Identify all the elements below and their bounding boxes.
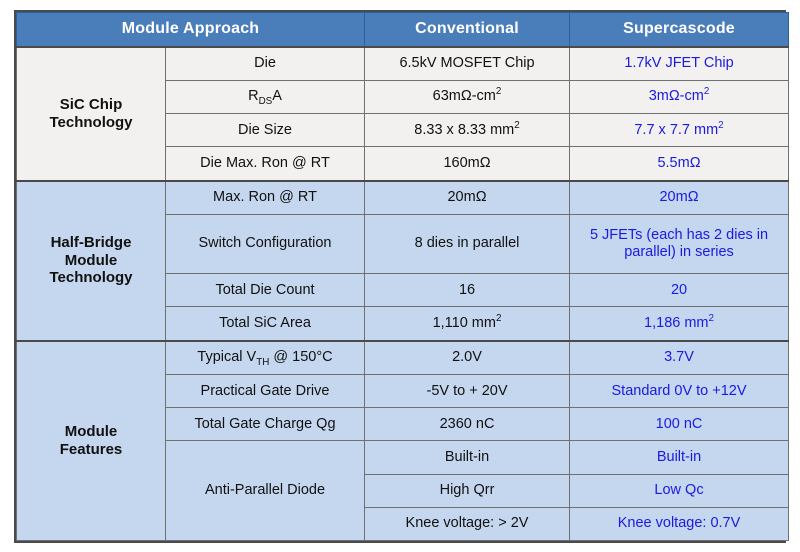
rdsa-base: R	[248, 88, 258, 104]
parameter-typical-vth: Typical VTH @ 150°C	[166, 341, 365, 375]
header-supercascode: Supercascode	[570, 13, 789, 47]
conv-die-size-superscript: 2	[514, 120, 519, 131]
parameter-total-sic-area: Total SiC Area	[166, 307, 365, 341]
value-supercascode-gate-charge: 100 nC	[570, 408, 789, 441]
parameter-die-max-ron-rt: Die Max. Ron @ RT	[166, 147, 365, 181]
table-row: SiC Chip Technology Die 6.5kV MOSFET Chi…	[17, 47, 789, 81]
table-body: SiC Chip Technology Die 6.5kV MOSFET Chi…	[17, 47, 789, 541]
value-supercascode-gate-drive: Standard 0V to +12V	[570, 374, 789, 407]
parameter-die: Die	[166, 47, 365, 81]
value-supercascode-diode-builtin: Built-in	[570, 441, 789, 474]
super-die-size-superscript: 2	[718, 120, 723, 131]
group-label-line-1: SiC Chip	[60, 96, 123, 113]
value-conventional-die-max-ron: 160mΩ	[365, 147, 570, 181]
parameter-max-ron-rt: Max. Ron @ RT	[166, 181, 365, 215]
value-supercascode-vth: 3.7V	[570, 341, 789, 375]
value-supercascode-diode-qc: Low Qc	[570, 474, 789, 507]
value-supercascode-knee-voltage: Knee voltage: 0.7V	[570, 507, 789, 540]
conv-die-size-base: 8.33 x 8.33 mm	[414, 122, 514, 138]
header-module-approach: Module Approach	[17, 13, 365, 47]
super-rdsa-superscript: 2	[704, 87, 709, 98]
vth-subscript: TH	[256, 357, 269, 368]
group-label-line-1: Module	[65, 423, 118, 440]
value-conventional-total-die-count: 16	[365, 273, 570, 306]
value-supercascode-rdsa: 3mΩ-cm2	[570, 80, 789, 113]
super-rdsa-base: 3mΩ-cm	[649, 88, 704, 104]
group-cell-half-bridge-module-technology: Half-Bridge Module Technology	[17, 181, 166, 341]
value-conventional-die: 6.5kV MOSFET Chip	[365, 47, 570, 81]
vth-tail: @ 150°C	[269, 349, 332, 365]
parameter-total-die-count: Total Die Count	[166, 273, 365, 306]
value-conventional-max-ron: 20mΩ	[365, 181, 570, 215]
group-label-line-2: Module	[65, 252, 118, 269]
value-conventional-knee-voltage: Knee voltage: > 2V	[365, 507, 570, 540]
value-conventional-die-size: 8.33 x 8.33 mm2	[365, 114, 570, 147]
value-supercascode-switch-config: 5 JFETs (each has 2 dies in parallel) in…	[570, 215, 789, 274]
group-label-line-2: Features	[60, 441, 123, 458]
value-conventional-gate-charge: 2360 nC	[365, 408, 570, 441]
value-conventional-gate-drive: -5V to + 20V	[365, 374, 570, 407]
rdsa-tail: A	[272, 88, 282, 104]
group-label-line-3: Technology	[49, 269, 132, 286]
value-supercascode-die-max-ron: 5.5mΩ	[570, 147, 789, 181]
parameter-anti-parallel-diode: Anti-Parallel Diode	[166, 441, 365, 541]
table-row: Module Features Typical VTH @ 150°C 2.0V…	[17, 341, 789, 375]
group-label-line-1: Half-Bridge	[51, 234, 132, 251]
parameter-total-gate-charge: Total Gate Charge Qg	[166, 408, 365, 441]
super-die-size-base: 7.7 x 7.7 mm	[634, 122, 718, 138]
super-sic-area-superscript: 2	[709, 313, 714, 324]
table-header-row: Module Approach Conventional Supercascod…	[17, 13, 789, 47]
table-row: Half-Bridge Module Technology Max. Ron @…	[17, 181, 789, 215]
value-conventional-diode-builtin: Built-in	[365, 441, 570, 474]
conv-sic-area-base: 1,110 mm	[433, 315, 496, 331]
value-supercascode-total-die-count: 20	[570, 273, 789, 306]
comparison-table-container: Module Approach Conventional Supercascod…	[14, 10, 786, 543]
parameter-practical-gate-drive: Practical Gate Drive	[166, 374, 365, 407]
parameter-switch-configuration: Switch Configuration	[166, 215, 365, 274]
parameter-rdsa: RDSA	[166, 80, 365, 113]
module-approach-comparison-table: Module Approach Conventional Supercascod…	[16, 12, 789, 541]
value-supercascode-total-sic-area: 1,186 mm2	[570, 307, 789, 341]
conv-rdsa-base: 63mΩ-cm	[433, 88, 496, 104]
conv-sic-area-superscript: 2	[496, 313, 501, 324]
vth-base: Typical V	[197, 349, 256, 365]
value-supercascode-die: 1.7kV JFET Chip	[570, 47, 789, 81]
value-supercascode-die-size: 7.7 x 7.7 mm2	[570, 114, 789, 147]
value-supercascode-max-ron: 20mΩ	[570, 181, 789, 215]
value-conventional-rdsa: 63mΩ-cm2	[365, 80, 570, 113]
header-conventional: Conventional	[365, 13, 570, 47]
conv-rdsa-superscript: 2	[496, 87, 501, 98]
value-conventional-total-sic-area: 1,110 mm2	[365, 307, 570, 341]
value-conventional-switch-config: 8 dies in parallel	[365, 215, 570, 274]
super-sic-area-base: 1,186 mm	[644, 315, 708, 331]
group-cell-module-features: Module Features	[17, 341, 166, 541]
group-label-line-2: Technology	[49, 114, 132, 131]
group-cell-sic-chip-technology: SiC Chip Technology	[17, 47, 166, 181]
rdsa-subscript: DS	[259, 96, 273, 107]
value-conventional-vth: 2.0V	[365, 341, 570, 375]
parameter-die-size: Die Size	[166, 114, 365, 147]
value-conventional-diode-qrr: High Qrr	[365, 474, 570, 507]
